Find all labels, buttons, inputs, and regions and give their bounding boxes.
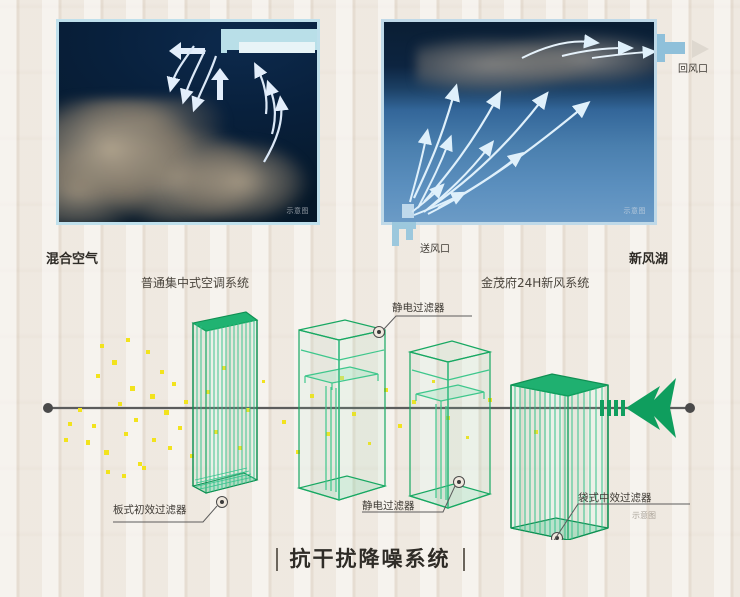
callout-leader-es1 (374, 316, 473, 338)
arrow-curve-up-2 (270, 88, 275, 134)
arrow-return-3 (592, 52, 648, 58)
callout-electrostatic-filter-2: 静电过滤器 (362, 498, 415, 513)
arrow-up-straight (211, 68, 229, 100)
supply-air-pipe-vertical-2 (406, 222, 413, 240)
right-system-caption: 金茂府24H新风系统 (481, 274, 589, 291)
watermark-right: 示意图 (624, 206, 647, 216)
electrostatic-filter-1-unit (299, 320, 385, 500)
diagram-title-bar: 抗干扰降噪系统 (0, 548, 740, 571)
arrow-return-1 (522, 42, 590, 58)
diagram-title: 抗干扰降噪系统 (276, 548, 465, 571)
left-system-caption: 普通集中式空调系统 (141, 274, 249, 291)
return-air-arrow-icon (692, 40, 709, 58)
supply-vent-label: 送风口 (420, 240, 450, 255)
fresh-air-system-panel: 示意图 (381, 19, 657, 225)
watermark-diagram: 示意图 (632, 510, 656, 521)
return-vent-label: 回风口 (678, 60, 708, 75)
supply-air-pipe-vertical (392, 222, 399, 246)
callout-plate-primary-filter: 板式初效过滤器 (113, 502, 187, 517)
fresh-air-lake-caption: 新风湖 (629, 248, 668, 267)
plate-primary-filter-unit (193, 312, 257, 493)
watermark-left: 示意图 (287, 206, 310, 216)
callout-electrostatic-filter-1: 静电过滤器 (392, 300, 445, 315)
arrow-supply-5 (410, 138, 426, 202)
airflow-arrows-left (59, 22, 320, 225)
electrostatic-filter-2-unit (410, 341, 490, 508)
arrow-curve-up-1 (258, 70, 267, 114)
bag-medium-filter-unit (511, 374, 608, 540)
mixed-air-caption: 混合空气 (46, 248, 98, 267)
arrow-supply-7 (424, 148, 488, 212)
return-air-pipe-cap (657, 34, 665, 62)
fresh-air-system-infographic: 示意图 示意图 (0, 0, 740, 597)
airflow-arrows-right (384, 22, 657, 225)
supply-vent-outlet (402, 204, 414, 218)
callout-bag-medium-filter: 袋式中效过滤器 (578, 490, 652, 505)
ordinary-central-ac-panel: 示意图 (56, 19, 320, 225)
